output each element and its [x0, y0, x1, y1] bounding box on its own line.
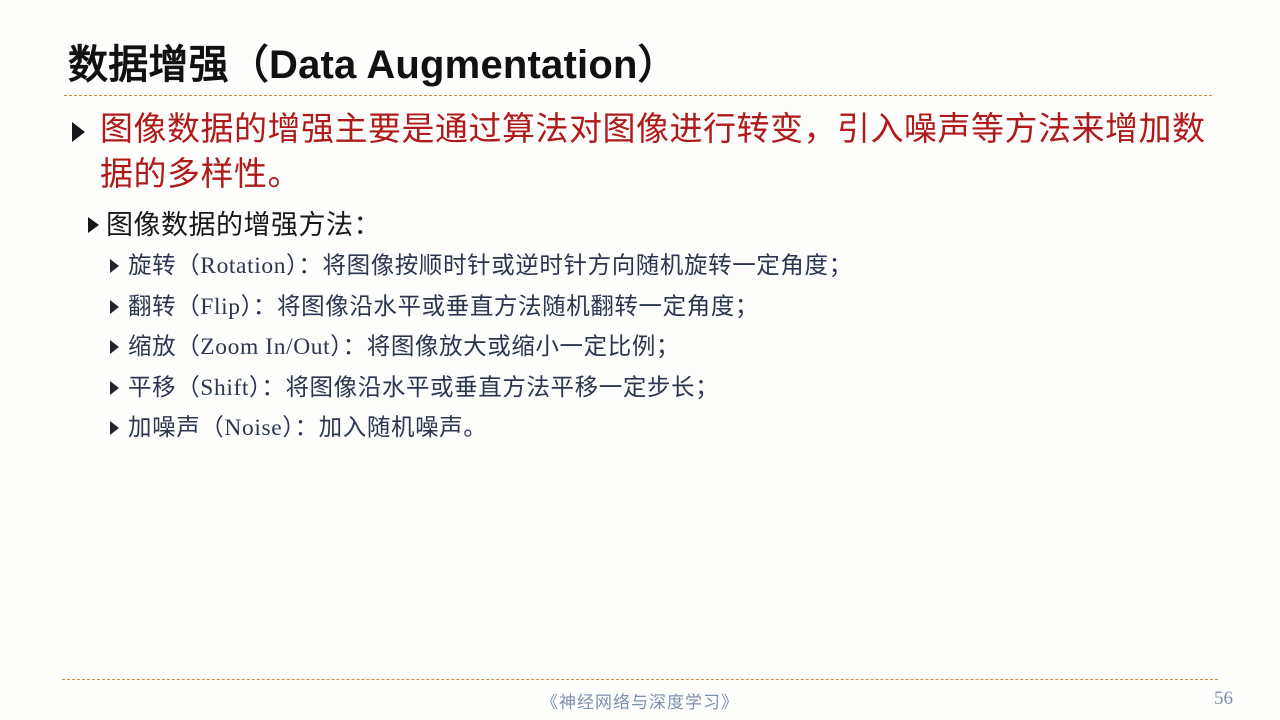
title-divider [64, 95, 1212, 96]
list-item: 平移（Shift）：将图像沿水平或垂直方法平移一定步长； [0, 368, 1280, 409]
list-item-label: 加噪声（Noise）：加入随机噪声。 [128, 415, 487, 441]
triangle-bullet-icon [110, 381, 119, 395]
page-number: 56 [1214, 688, 1233, 710]
slide-body: 图像数据的增强主要是通过算法对图像进行转变，引入噪声等方法来增加数据的多样性。 … [0, 108, 1280, 449]
list-item-label: 平移（Shift）：将图像沿水平或垂直方法平移一定步长； [128, 375, 719, 401]
bullet-level2: 图像数据的增强方法： [0, 204, 1280, 246]
list-item-label: 缩放（Zoom In/Out）：将图像放大或缩小一定比例； [128, 334, 680, 360]
list-item-label: 旋转（Rotation）：将图像按顺时针或逆时针方向随机旋转一定角度； [128, 253, 853, 279]
footer-divider [62, 679, 1218, 680]
footer-book-title: 《神经网络与深度学习》 [0, 688, 1280, 713]
slide-canvas: 数据增强（Data Augmentation） 图像数据的增强主要是通过算法对图… [0, 0, 1280, 720]
list-item: 加噪声（Noise）：加入随机噪声。 [0, 408, 1280, 449]
triangle-bullet-icon [88, 217, 99, 233]
triangle-bullet-icon [110, 421, 119, 435]
list-item: 旋转（Rotation）：将图像按顺时针或逆时针方向随机旋转一定角度； [0, 246, 1280, 287]
list-item: 翻转（Flip）：将图像沿水平或垂直方法随机翻转一定角度； [0, 287, 1280, 328]
bullet-level1: 图像数据的增强主要是通过算法对图像进行转变，引入噪声等方法来增加数据的多样性。 [0, 108, 1280, 198]
triangle-bullet-icon [72, 122, 85, 142]
list-item: 缩放（Zoom In/Out）：将图像放大或缩小一定比例； [0, 327, 1280, 368]
bullet-level1-text: 图像数据的增强主要是通过算法对图像进行转变，引入噪声等方法来增加数据的多样性。 [100, 112, 1206, 193]
page-title: 数据增强（Data Augmentation） [68, 32, 678, 90]
triangle-bullet-icon [110, 340, 119, 354]
bullet-level2-text: 图像数据的增强方法： [106, 210, 381, 240]
triangle-bullet-icon [110, 300, 119, 314]
triangle-bullet-icon [110, 259, 119, 273]
list-item-label: 翻转（Flip）：将图像沿水平或垂直方法随机翻转一定角度； [128, 294, 759, 320]
